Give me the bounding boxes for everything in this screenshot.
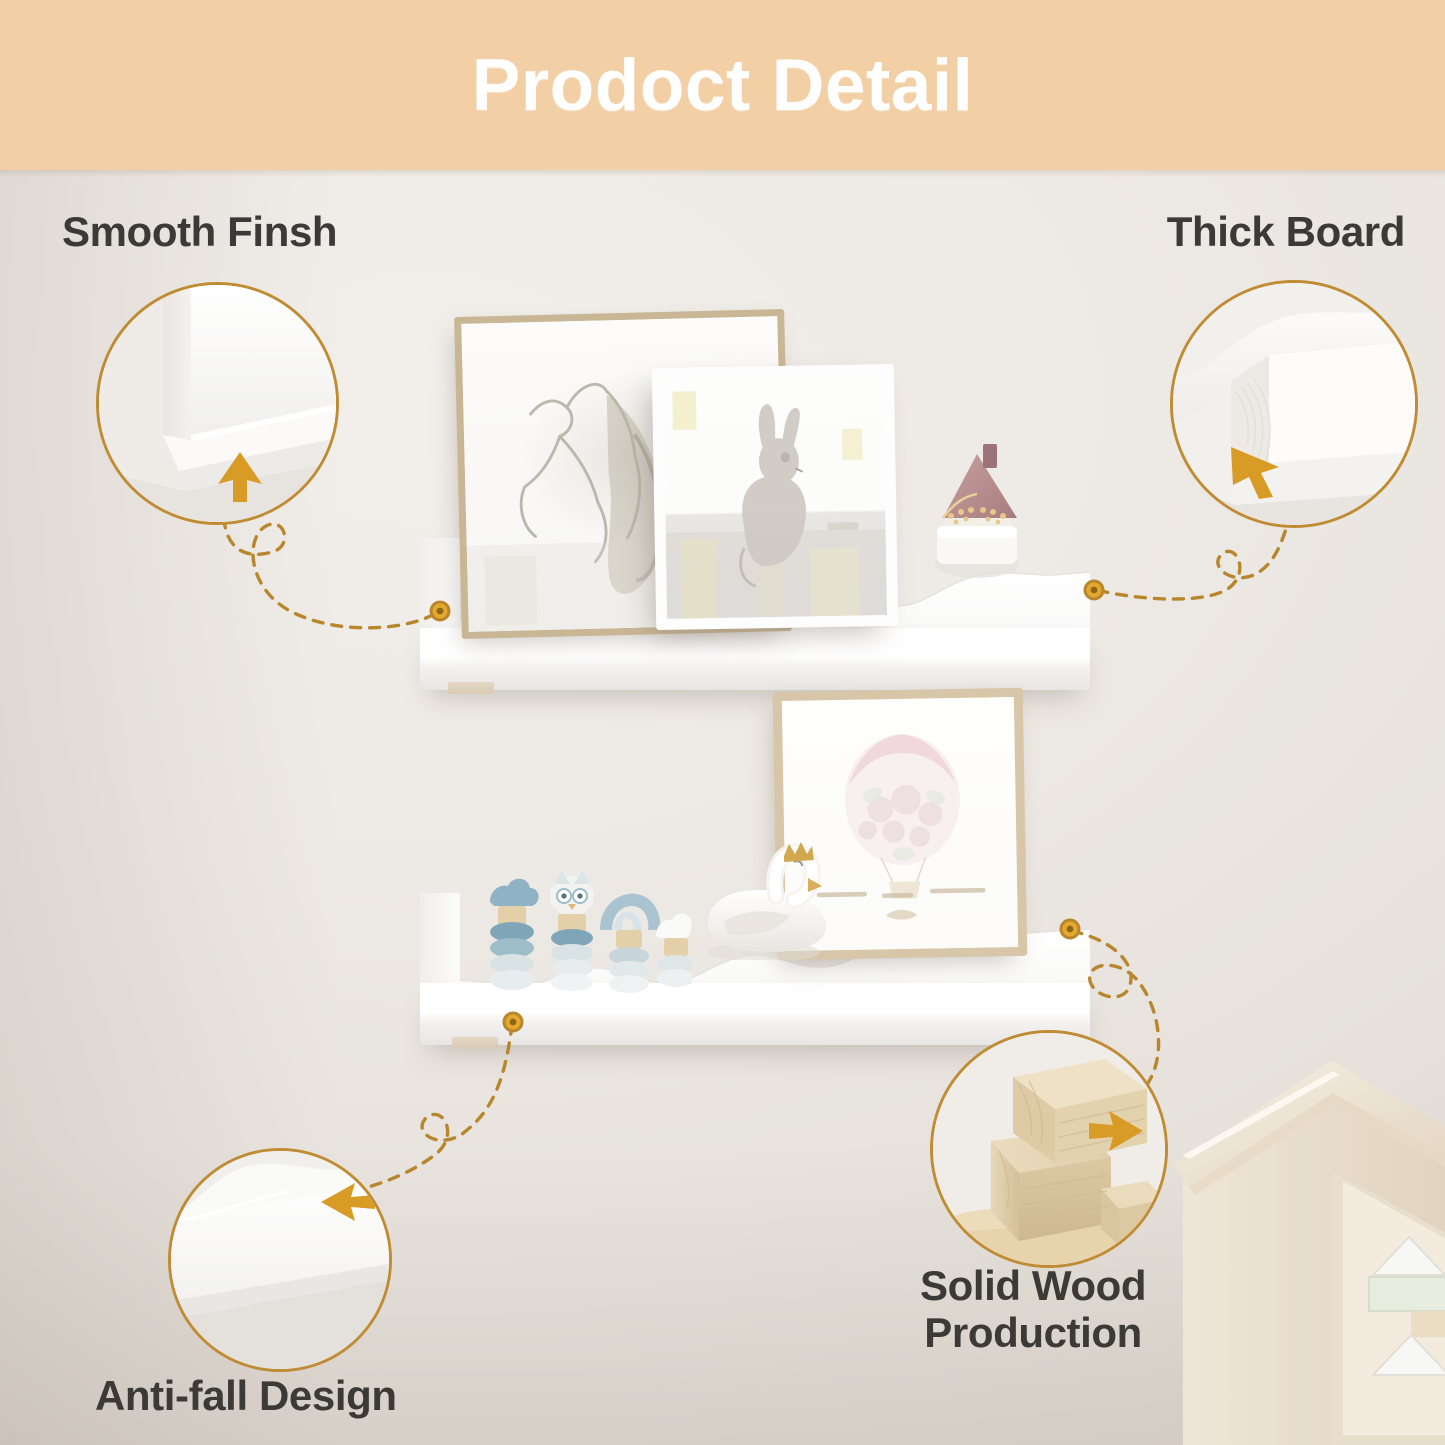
- shelf-bracket: [448, 682, 494, 694]
- callout-smooth-finish: [96, 282, 339, 525]
- label-thick-board: Thick Board: [1167, 208, 1405, 255]
- label-solid-wood-production: Solid Wood Production: [920, 1262, 1146, 1356]
- bunny-artwork: [652, 364, 899, 630]
- callout-arrow-up-left: [1225, 443, 1285, 501]
- page-title: Prodoct Detail: [472, 49, 974, 122]
- wooden-stacker-toys: [472, 868, 692, 996]
- label-smooth-finish: Smooth Finsh: [62, 208, 337, 255]
- house-ornament: [925, 440, 1030, 580]
- label-anti-fall-design: Anti-fall Design: [95, 1372, 397, 1419]
- callout-anti-fall: [168, 1148, 392, 1372]
- callout-arrow-right: [1085, 1109, 1145, 1153]
- header-banner: Prodoct Detail: [0, 0, 1445, 170]
- house-shaped-bookshelf: [1173, 975, 1445, 1445]
- callout-arrow-left: [319, 1181, 377, 1223]
- callout-arrow-up: [217, 450, 263, 502]
- callout-solid-wood: [930, 1030, 1168, 1268]
- product-detail-image: Prodoct Detail: [0, 0, 1445, 1445]
- shelf-bracket: [452, 1037, 498, 1049]
- swan-figurine: [690, 840, 840, 960]
- callout-thick-board: [1170, 280, 1418, 528]
